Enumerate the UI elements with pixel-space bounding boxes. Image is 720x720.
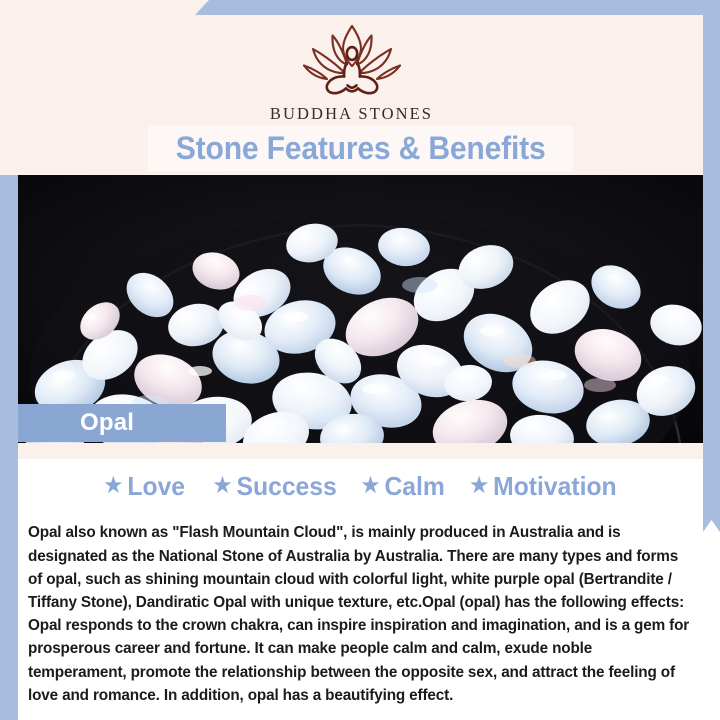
- left-accent-strip: [0, 175, 18, 720]
- top-accent-band: [195, 0, 720, 15]
- right-accent-strip: [703, 0, 720, 532]
- title-banner: Stone Features & Benefits: [148, 126, 573, 171]
- benefit-label: Love: [127, 471, 185, 502]
- brand-logo: BUDDHA STONES: [0, 22, 703, 124]
- header-section: BUDDHA STONES Stone Features & Benefits: [0, 0, 703, 175]
- benefit-success: ★ Success: [212, 471, 336, 502]
- benefit-motivation: ★ Motivation: [469, 471, 617, 502]
- page-title: Stone Features & Benefits: [176, 130, 546, 167]
- benefit-love: ★ Love: [103, 471, 185, 502]
- benefit-label: Motivation: [493, 471, 616, 502]
- star-icon: ★: [360, 474, 380, 498]
- stone-description: Opal also known as "Flash Mountain Cloud…: [28, 521, 691, 707]
- brand-name: BUDDHA STONES: [270, 104, 433, 124]
- infographic-page: BUDDHA STONES Stone Features & Benefits: [0, 0, 720, 720]
- stone-name-label: Opal: [18, 404, 226, 442]
- benefits-row: ★ Love ★ Success ★ Calm ★ Motivation: [18, 466, 703, 506]
- benefit-label: Success: [236, 471, 336, 502]
- lotus-meditation-icon: [294, 22, 410, 100]
- stone-photo: [0, 175, 720, 443]
- stone-name-text: Opal: [18, 409, 134, 437]
- star-icon: ★: [103, 474, 123, 498]
- benefit-calm: ★ Calm: [360, 471, 445, 502]
- benefit-label: Calm: [384, 471, 444, 502]
- star-icon: ★: [469, 474, 489, 498]
- divider-band: [18, 443, 703, 459]
- star-icon: ★: [212, 474, 232, 498]
